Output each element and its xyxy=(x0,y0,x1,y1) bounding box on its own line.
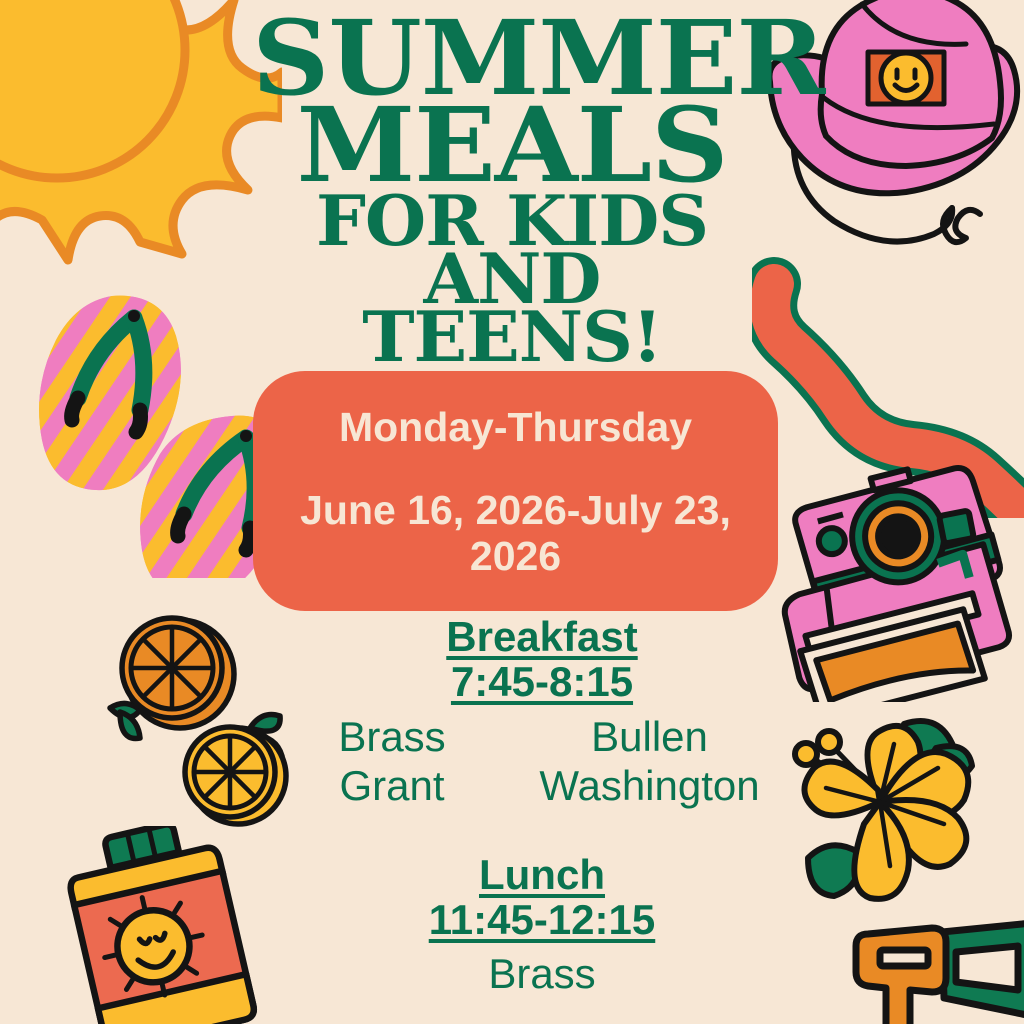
banner-dates-text: June 16, 2026-July 23, 2026 xyxy=(281,488,751,580)
site-name: Washington xyxy=(500,761,800,811)
page-title: SUMMER MEALS FOR KIDS AND TEENS! xyxy=(262,16,762,367)
site-name: Grant xyxy=(285,761,500,811)
breakfast-sites: Brass Bullen Grant Washington xyxy=(262,712,822,811)
summer-meals-flyer: SUMMER MEALS FOR KIDS AND TEENS! Monday-… xyxy=(0,0,1024,1024)
title-line-3: FOR KIDS AND xyxy=(257,193,767,309)
title-line-2: MEALS xyxy=(252,103,772,190)
schedule-date-banner: Monday-Thursday June 16, 2026-July 23, 2… xyxy=(253,371,778,611)
site-name: Brass xyxy=(285,712,500,762)
site-name: Brass xyxy=(262,950,822,998)
breakfast-section: Breakfast 7:45-8:15 Brass Bullen Grant W… xyxy=(262,614,822,811)
flyer-content: SUMMER MEALS FOR KIDS AND TEENS! Monday-… xyxy=(0,0,1024,1024)
breakfast-sites-row-1: Brass Bullen xyxy=(262,712,822,762)
breakfast-sites-row-2: Grant Washington xyxy=(262,761,822,811)
title-line-4: TEENS! xyxy=(257,309,767,367)
lunch-section: Lunch 11:45-12:15 Brass xyxy=(262,852,822,998)
lunch-time: 11:45-12:15 xyxy=(262,897,822,943)
breakfast-label: Breakfast xyxy=(262,614,822,659)
breakfast-time: 7:45-8:15 xyxy=(262,659,822,705)
lunch-label: Lunch xyxy=(262,852,822,897)
site-name: Bullen xyxy=(500,712,800,762)
banner-days-text: Monday-Thursday xyxy=(339,405,692,450)
